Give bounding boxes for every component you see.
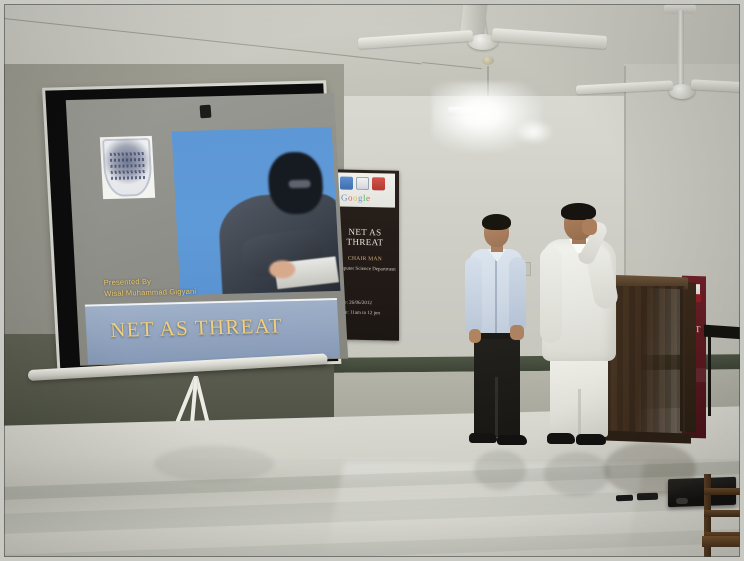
hand [469,329,481,343]
remote-control [616,495,633,502]
slide-presenter-block: Presented By Wisal Muhammad Gigyani [103,272,284,299]
hand [510,325,524,340]
shirt-sleeve [509,257,526,333]
leg-separation [495,377,498,439]
poster-brand-logo: Google [341,192,371,203]
slide-photo-hacker [172,127,341,295]
hand-at-face [582,219,597,235]
slide-title: NET AS THREAT [110,313,284,342]
projector-lens-icon [676,498,688,504]
app-icon-red [372,177,385,190]
screen-frame: Presented By Wisal Muhammad Gigyani NET … [45,83,338,368]
fan-blade [492,28,608,49]
hair [482,214,511,230]
person-presenter-standing [463,217,529,451]
lamp-glare-secondary [514,119,554,145]
photograph-canvas: Google NET AS THREAT CHAIR MAN Computer … [0,0,744,561]
presentation-slide: Presented By Wisal Muhammad Gigyani NET … [66,93,348,366]
chair-backrest-rail [704,510,740,517]
app-icon-white [356,177,369,190]
fan-blade [691,79,740,94]
chair-seat [702,536,740,547]
person-speaker-at-podium [538,203,620,453]
university-crest-icon [100,136,155,199]
poster-header: Google [335,172,395,207]
ceiling-fan-icon [594,8,740,108]
leg-separation [578,389,581,437]
hair [561,203,596,220]
projector-screen: Presented By Wisal Muhammad Gigyani NET … [31,87,336,379]
floor-reflection [604,442,696,496]
shoe [547,433,575,444]
floor-reflection [474,450,526,490]
floor-reflection [154,446,274,482]
shirt-sleeve [465,257,482,335]
shoe [497,435,527,445]
side-table-leg [708,334,711,416]
wooden-chair [704,474,740,557]
chair-backrest-rail [704,488,740,495]
fan-downrod [677,10,684,88]
shoe [576,434,606,445]
lecture-hall-scene: Google NET AS THREAT CHAIR MAN Computer … [4,4,740,557]
poster-app-icons [340,176,385,190]
screen-top-bracket-icon [200,105,212,119]
hacker-mask-eye-slot [288,180,310,189]
shirt-placket [495,257,497,333]
wall-lamp-icon [448,107,474,116]
sleeve [540,247,562,343]
shoe [469,433,497,443]
floor-reflection [544,452,610,496]
